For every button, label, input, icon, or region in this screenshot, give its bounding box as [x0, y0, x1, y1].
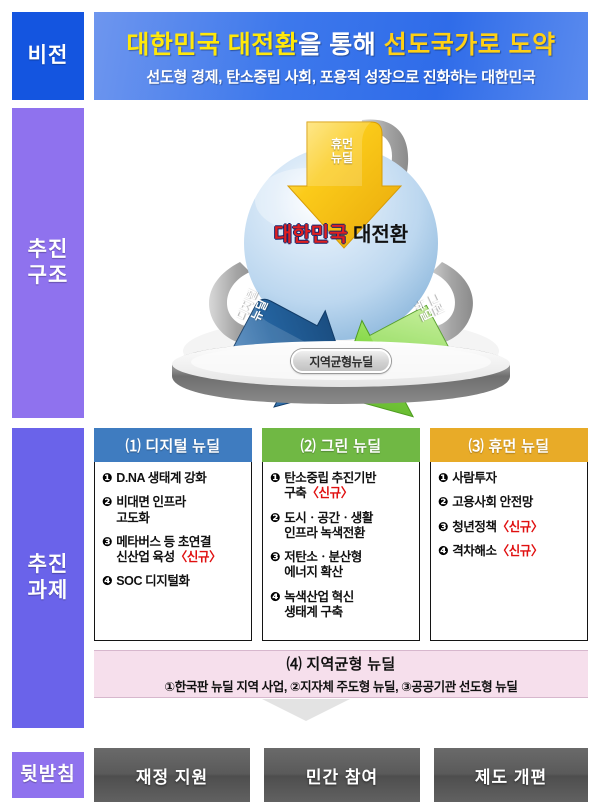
regional-balance-title: ⑷ 지역균형 뉴딜: [287, 653, 396, 674]
support-box-finance: 재정 지원: [94, 748, 250, 802]
sidebar-label-vision-text: 비전: [28, 43, 69, 69]
task-column-header-green: ⑵ 그린 뉴딜: [262, 428, 420, 462]
task-item-number: ❸: [270, 550, 280, 565]
task-item-number: ❶: [438, 471, 448, 486]
task-list-digital: ❶D.NA 생태계 강화❷비대면 인프라 고도화❸메타버스 등 초연결 신산업 …: [94, 462, 252, 641]
task-item: ❸저탄소ㆍ분산형 에너지 확산: [270, 550, 413, 581]
task-column-digital: ⑴ 디지털 뉴딜 ❶D.NA 생태계 강화❷비대면 인프라 고도화❸메타버스 등…: [94, 428, 252, 641]
support-box-institution: 제도 개편: [434, 748, 588, 802]
platform-label-regional: 지역균형뉴딜: [291, 349, 391, 373]
vision-banner: 대한민국 대전환을 통해 선도국가로 도약 선도형 경제, 탄소중립 사회, 포…: [94, 12, 588, 100]
sidebar-label-support-text: 뒷받침: [20, 763, 75, 787]
funnel-connector-icon: [262, 699, 350, 721]
task-item-text: 녹색산업 혁신 생태계 구축: [284, 590, 413, 621]
vision-title-part-2: 선도국가로 도약: [384, 31, 556, 59]
regional-balance-band: ⑷ 지역균형 뉴딜 ①한국판 뉴딜 지역 사업, ②지자체 주도형 뉴딜, ③공…: [94, 650, 588, 698]
sidebar-label-tasks: 추진 과제: [12, 428, 84, 728]
task-item-text: 도시ㆍ공간ㆍ생활 인프라 녹색전환: [284, 511, 413, 542]
task-item-text: 격차해소〈신규〉: [452, 544, 581, 559]
task-item-text: SOC 디지털화: [116, 574, 245, 589]
task-item-number: ❶: [102, 471, 112, 486]
task-item-number: ❸: [438, 520, 448, 535]
task-item-number: ❷: [438, 495, 448, 510]
task-item-number: ❸: [102, 535, 112, 550]
task-item: ❷비대면 인프라 고도화: [102, 495, 245, 526]
task-item-number: ❶: [270, 471, 280, 486]
vision-title-part-0: 대한민국 대전환: [126, 31, 298, 59]
task-item-number: ❷: [270, 511, 280, 526]
sidebar-label-vision: 비전: [12, 12, 84, 100]
vision-title: 대한민국 대전환을 통해 선도국가로 도약: [126, 25, 555, 61]
task-item: ❹SOC 디지털화: [102, 574, 245, 589]
task-item-number: ❷: [102, 495, 112, 510]
task-item-new-badge: 〈신규〉: [306, 486, 352, 500]
sidebar-label-support: 뒷받침: [12, 752, 84, 798]
task-item: ❸메타버스 등 초연결 신산업 육성〈신규〉: [102, 535, 245, 566]
task-item: ❶탄소중립 추진기반 구축〈신규〉: [270, 471, 413, 502]
task-column-header-human: ⑶ 휴먼 뉴딜: [430, 428, 588, 462]
task-item-number: ❹: [270, 590, 280, 605]
task-list-green: ❶탄소중립 추진기반 구축〈신규〉❷도시ㆍ공간ㆍ생활 인프라 녹색전환❸저탄소ㆍ…: [262, 462, 420, 641]
task-column-header-digital: ⑴ 디지털 뉴딜: [94, 428, 252, 462]
task-item: ❷도시ㆍ공간ㆍ생활 인프라 녹색전환: [270, 511, 413, 542]
task-item-text: D.NA 생태계 강화: [116, 471, 245, 486]
task-item-text: 저탄소ㆍ분산형 에너지 확산: [284, 550, 413, 581]
task-item-text: 사람투자: [452, 471, 581, 486]
task-item-text: 메타버스 등 초연결 신산업 육성〈신규〉: [116, 535, 245, 566]
regional-balance-subtitle: ①한국판 뉴딜 지역 사업, ②지자체 주도형 뉴딜, ③공공기관 선도형 뉴딜: [165, 676, 518, 695]
task-item-text: 청년정책〈신규〉: [452, 520, 581, 535]
task-column-green: ⑵ 그린 뉴딜 ❶탄소중립 추진기반 구축〈신규〉❷도시ㆍ공간ㆍ생활 인프라 녹…: [262, 428, 420, 641]
support-box-private: 민간 참여: [264, 748, 420, 802]
task-list-human: ❶사람투자❷고용사회 안전망❸청년정책〈신규〉❹격차해소〈신규〉: [430, 462, 588, 641]
task-item-text: 탄소중립 추진기반 구축〈신규〉: [284, 471, 413, 502]
task-item-new-badge: 〈신규〉: [497, 544, 543, 558]
task-item: ❶사람투자: [438, 471, 581, 486]
task-item-text: 고용사회 안전망: [452, 495, 581, 510]
task-item: ❸청년정책〈신규〉: [438, 520, 581, 535]
sidebar-label-tasks-text: 추진 과제: [28, 552, 69, 605]
platform-label-regional-text: 지역균형뉴딜: [309, 353, 372, 370]
task-item: ❹녹색산업 혁신 생태계 구축: [270, 590, 413, 621]
task-column-human: ⑶ 휴먼 뉴딜 ❶사람투자❷고용사회 안전망❸청년정책〈신규〉❹격차해소〈신규〉: [430, 428, 588, 641]
sidebar-label-structure: 추진 구조: [12, 108, 84, 418]
task-item: ❷고용사회 안전망: [438, 495, 581, 510]
task-item-new-badge: 〈신규〉: [175, 550, 221, 564]
task-item-number: ❹: [102, 574, 112, 589]
structure-diagram: 대한민국 대전환 휴먼 뉴딜 디지털 뉴딜 그린 뉴딜 지역균형뉴딜: [94, 108, 588, 418]
sidebar-label-structure-text: 추진 구조: [28, 237, 69, 290]
vision-title-part-1: 을 통해: [298, 31, 383, 59]
task-item: ❶D.NA 생태계 강화: [102, 471, 245, 486]
task-item: ❹격차해소〈신규〉: [438, 544, 581, 559]
task-item-number: ❹: [438, 544, 448, 559]
vision-subtitle: 선도형 경제, 탄소중립 사회, 포용적 성장으로 진화하는 대한민국: [146, 66, 535, 87]
task-item-new-badge: 〈신규〉: [497, 520, 543, 534]
task-item-text: 비대면 인프라 고도화: [116, 495, 245, 526]
